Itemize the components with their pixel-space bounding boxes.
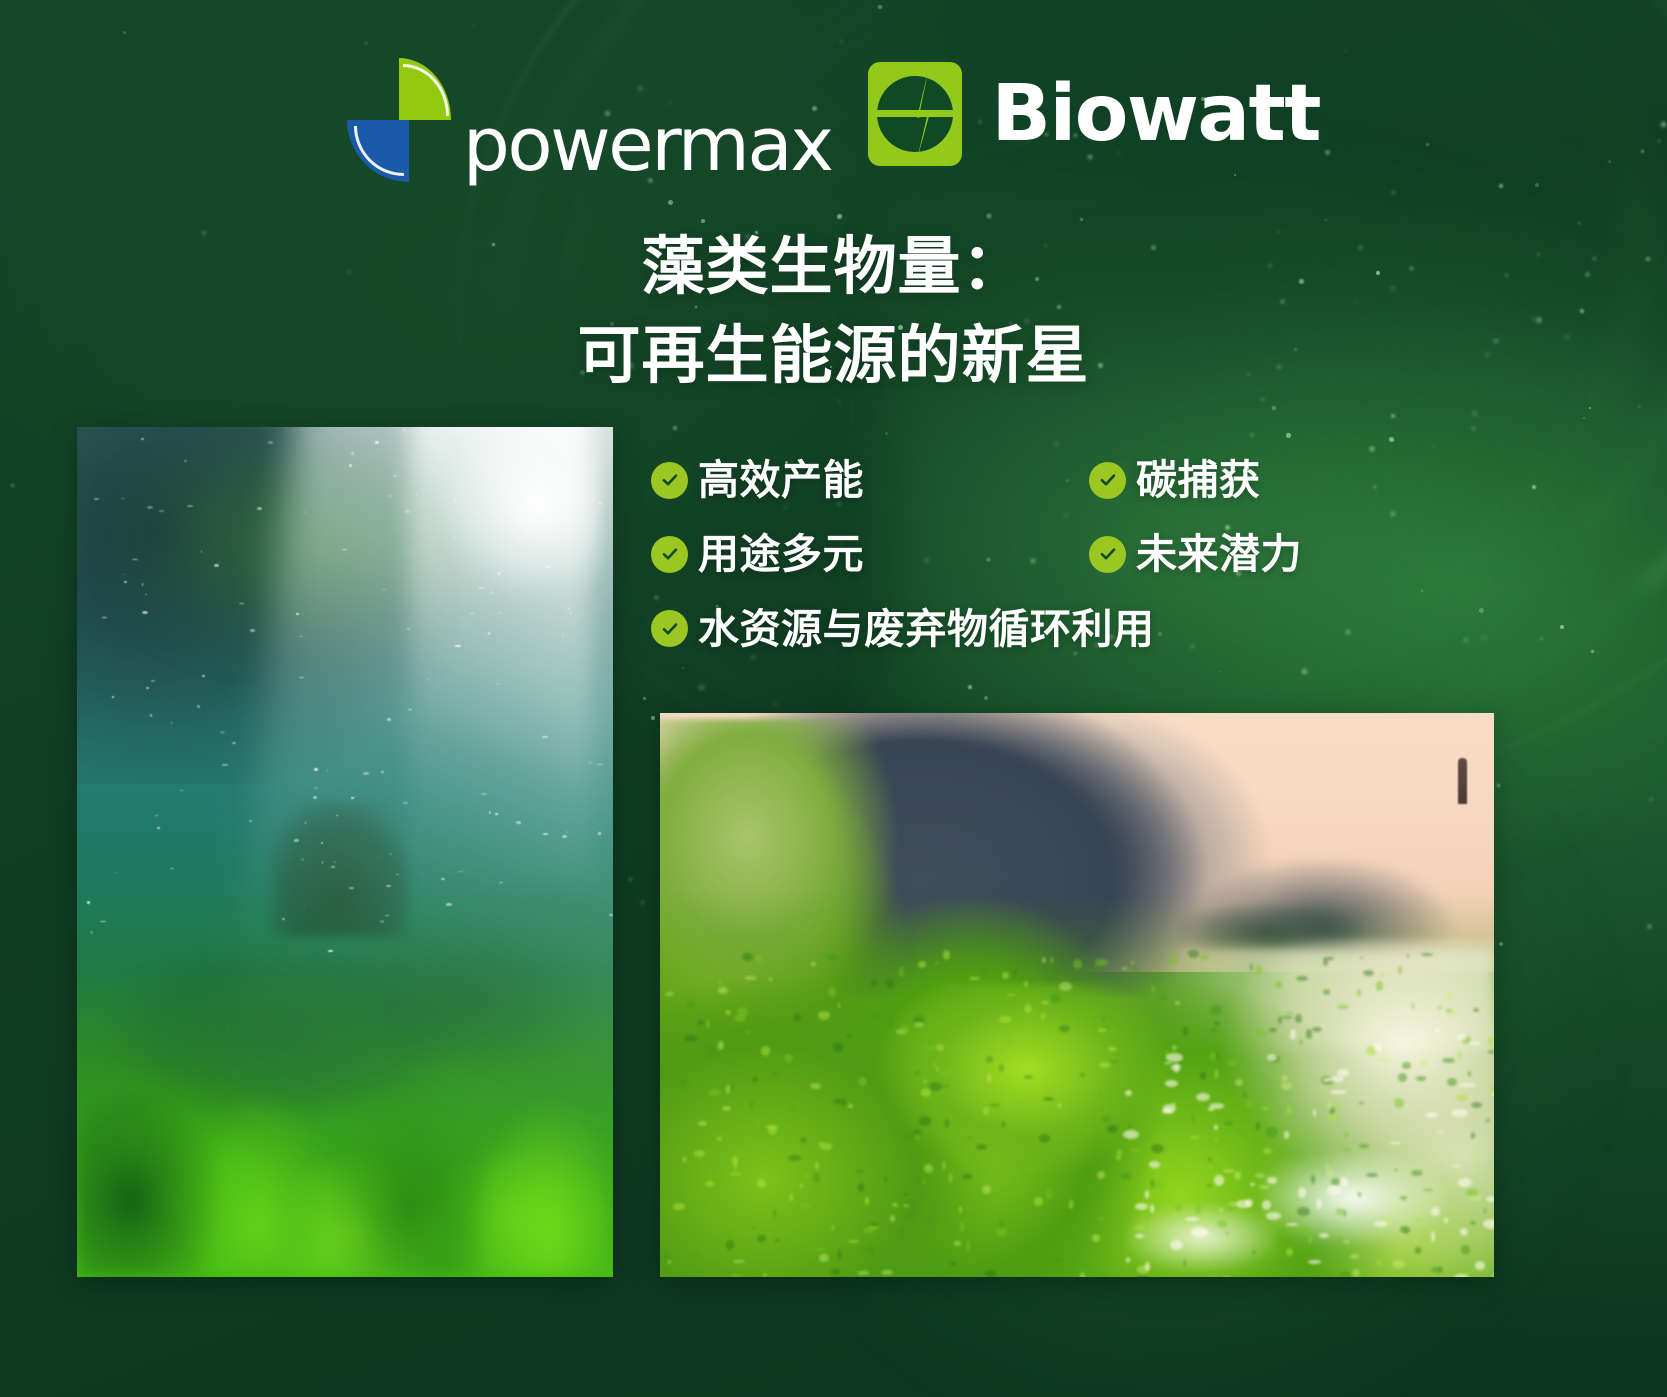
biowatt-logo[interactable]: Biowatt — [868, 62, 1321, 166]
two-leaf-quadrant-logo-icon — [347, 52, 451, 176]
page-title: 藻类生物量： 可再生能源的新星 — [0, 222, 1667, 401]
title-line-2: 可再生能源的新星 — [0, 311, 1667, 400]
check-circle-icon — [651, 536, 688, 573]
leaf-green-shape-icon — [399, 58, 451, 120]
poster-canvas: powermax Biowatt 藻类生物量： 可再生能源的新星 高效产能 — [0, 0, 1667, 1397]
title-line-1: 藻类生物量： — [0, 222, 1667, 311]
brand-logo-row: powermax Biowatt — [0, 52, 1667, 176]
feature-label: 水资源与废弃物循环利用 — [698, 607, 1155, 651]
feature-row: 高效产能 碳捕获 — [651, 458, 1371, 502]
leaf-bolt-square-logo-icon — [868, 62, 962, 166]
powermax-logo[interactable]: powermax — [347, 52, 832, 176]
feature-label: 高效产能 — [698, 458, 864, 502]
check-circle-icon — [1089, 462, 1126, 499]
powermax-wordmark: powermax — [463, 115, 832, 176]
check-circle-icon — [651, 462, 688, 499]
feature-list: 高效产能 碳捕获 用途多元 未来潜力 — [651, 458, 1371, 651]
feature-label: 碳捕获 — [1136, 458, 1261, 502]
feature-row: 用途多元 未来潜力 — [651, 532, 1371, 576]
photo-algae-texture — [660, 713, 1494, 1277]
biowatt-wordmark: Biowatt — [992, 81, 1321, 147]
logo-divider-bar — [877, 110, 953, 117]
check-circle-icon — [1089, 536, 1126, 573]
list-item: 水资源与废弃物循环利用 — [651, 607, 1155, 651]
list-item: 碳捕获 — [1089, 458, 1261, 502]
list-item: 用途多元 — [651, 532, 1089, 576]
underwater-algae-sunrays-image — [77, 427, 613, 1277]
coastal-green-algae-rocks-image — [660, 713, 1494, 1277]
feature-label: 用途多元 — [698, 532, 864, 576]
feature-label: 未来潜力 — [1136, 532, 1302, 576]
check-circle-icon — [651, 610, 688, 647]
feature-row: 水资源与废弃物循环利用 — [651, 607, 1371, 651]
leaf-blue-shape-icon — [347, 120, 409, 182]
list-item: 高效产能 — [651, 458, 1089, 502]
photo-water-specks — [77, 427, 613, 1277]
list-item: 未来潜力 — [1089, 532, 1302, 576]
